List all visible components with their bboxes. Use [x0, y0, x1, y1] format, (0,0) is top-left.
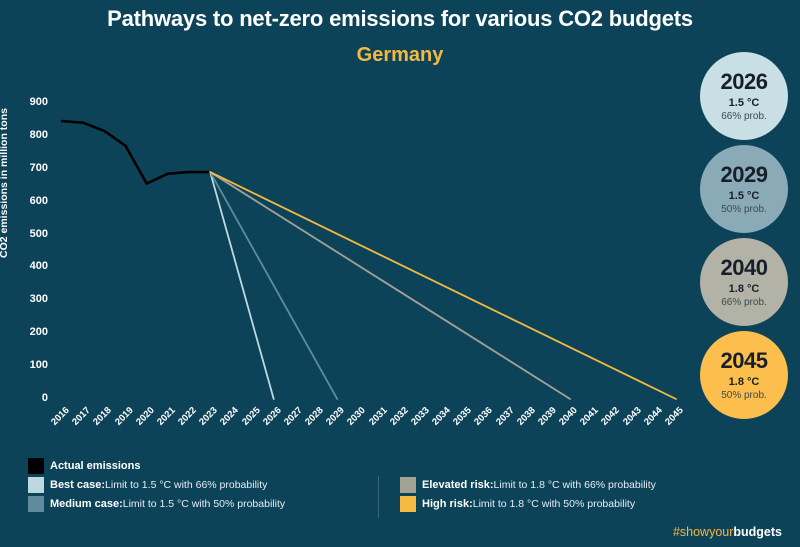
- badge-probability: 50% prob.: [721, 204, 767, 215]
- legend-description: Limit to 1.5 °C with 50% probability: [123, 498, 285, 510]
- y-tick-label: 200: [8, 326, 48, 338]
- series-line: [62, 121, 210, 183]
- hashtag-prefix: #showyour: [673, 525, 733, 539]
- series-lines: [0, 88, 700, 418]
- badge-temperature: 1.8 °C: [729, 376, 760, 388]
- legend-swatch-icon: [28, 496, 44, 512]
- legend-label: High risk:: [422, 498, 473, 510]
- legend-description: Limit to 1.5 °C with 66% probability: [105, 479, 267, 491]
- legend-swatch-icon: [28, 477, 44, 493]
- budget-badge-2045[interactable]: 20451.8 °C50% prob.: [700, 331, 788, 419]
- y-tick-label: 900: [8, 96, 48, 108]
- y-tick-label: 500: [8, 228, 48, 240]
- legend-label: Elevated risk:: [422, 479, 494, 491]
- legend-divider: [378, 476, 379, 518]
- badge-probability: 66% prob.: [721, 297, 767, 308]
- legend-swatch-icon: [28, 458, 44, 474]
- page-title: Pathways to net-zero emissions for vario…: [0, 6, 800, 32]
- badge-temperature: 1.8 °C: [729, 283, 760, 295]
- legend-column-right: Elevated risk: Limit to 1.8 °C with 66% …: [400, 475, 656, 513]
- chart-legend: Actual emissionsBest case: Limit to 1.5 …: [28, 456, 772, 518]
- budget-badge-2029[interactable]: 20291.5 °C50% prob.: [700, 145, 788, 233]
- legend-item[interactable]: Medium case: Limit to 1.5 °C with 50% pr…: [28, 494, 285, 513]
- badge-year: 2045: [721, 349, 768, 372]
- badge-temperature: 1.5 °C: [729, 97, 760, 109]
- badge-probability: 50% prob.: [721, 390, 767, 401]
- legend-swatch-icon: [400, 477, 416, 493]
- y-tick-label: 700: [8, 162, 48, 174]
- legend-item[interactable]: High risk: Limit to 1.8 °C with 50% prob…: [400, 494, 656, 513]
- y-tick-label: 400: [8, 260, 48, 272]
- badge-temperature: 1.5 °C: [729, 190, 760, 202]
- chart-canvas: Pathways to net-zero emissions for vario…: [0, 0, 800, 547]
- badge-probability: 66% prob.: [721, 111, 767, 122]
- legend-item[interactable]: Elevated risk: Limit to 1.8 °C with 66% …: [400, 475, 656, 494]
- budget-badge-2040[interactable]: 20401.8 °C66% prob.: [700, 238, 788, 326]
- hashtag-suffix: budgets: [733, 525, 782, 539]
- budget-badge-2026[interactable]: 20261.5 °C66% prob.: [700, 52, 788, 140]
- badge-year: 2029: [721, 163, 768, 186]
- y-tick-label: 300: [8, 293, 48, 305]
- y-tick-label: 100: [8, 359, 48, 371]
- legend-label: Actual emissions: [50, 460, 140, 472]
- legend-description: Limit to 1.8 °C with 66% probability: [494, 479, 656, 491]
- legend-swatch-icon: [400, 496, 416, 512]
- y-tick-label: 600: [8, 195, 48, 207]
- y-tick-label: 0: [8, 392, 48, 404]
- badge-year: 2026: [721, 70, 768, 93]
- legend-description: Limit to 1.8 °C with 50% probability: [473, 498, 635, 510]
- legend-label: Best case:: [50, 479, 105, 491]
- series-line: [210, 172, 337, 399]
- y-tick-label: 800: [8, 129, 48, 141]
- hashtag-footer: #showyourbudgets: [673, 525, 782, 539]
- legend-item[interactable]: Best case: Limit to 1.5 °C with 66% prob…: [28, 475, 285, 494]
- legend-label: Medium case:: [50, 498, 123, 510]
- plot-area: CO2 emissions in million tons 0100200300…: [0, 88, 700, 418]
- chart-subtitle: Germany: [0, 44, 800, 67]
- legend-column-left: Actual emissionsBest case: Limit to 1.5 …: [28, 456, 285, 513]
- series-line: [210, 172, 676, 399]
- legend-item[interactable]: Actual emissions: [28, 456, 285, 475]
- badge-year: 2040: [721, 256, 768, 279]
